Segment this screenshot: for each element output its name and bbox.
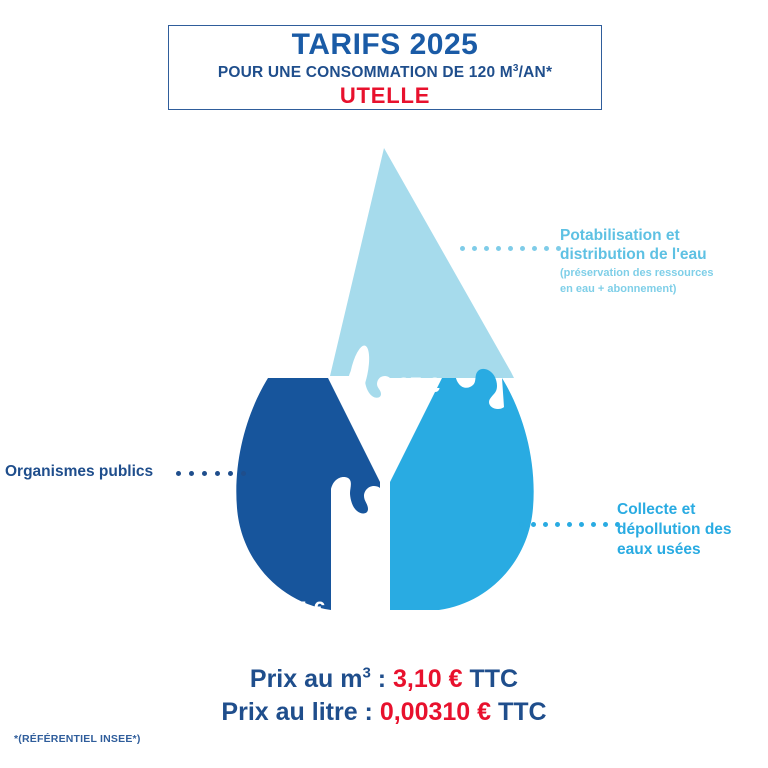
connector-dots-right xyxy=(519,522,627,527)
water-drop-puzzle-chart: 1,27 € 0,55 € 1,28 € xyxy=(225,140,545,625)
legend-right-line2: dépollution des xyxy=(617,520,767,540)
dot xyxy=(520,246,525,251)
subtitle-suffix: /AN* xyxy=(519,64,553,81)
legend-left-line1: Organismes publics xyxy=(5,462,175,482)
legend-top-note1: (préservation des ressources xyxy=(560,267,760,281)
dot xyxy=(202,471,207,476)
price-m3-suffix: TTC xyxy=(463,665,519,693)
puzzle-piece-left[interactable] xyxy=(236,378,380,610)
price-summary: Prix au m3 : 3,10 € TTC Prix au litre : … xyxy=(0,663,768,728)
price-litre-value: 0,00310 € xyxy=(380,698,491,726)
dot xyxy=(532,246,537,251)
connector-dots-top xyxy=(460,246,568,251)
legend-right-line1: Collecte et xyxy=(617,500,767,520)
price-litre-suffix: TTC xyxy=(491,698,547,726)
dot xyxy=(555,522,560,527)
dot xyxy=(496,246,501,251)
dot xyxy=(215,471,220,476)
dot xyxy=(543,522,548,527)
subtitle-prefix: POUR UNE CONSOMMATION DE 120 M xyxy=(218,64,513,81)
page-subtitle: POUR UNE CONSOMMATION DE 120 M3/AN* xyxy=(218,63,552,83)
dot xyxy=(189,471,194,476)
dot xyxy=(228,471,233,476)
page-title: TARIFS 2025 xyxy=(292,29,479,61)
header-title-box: TARIFS 2025 POUR UNE CONSOMMATION DE 120… xyxy=(168,25,602,110)
dot xyxy=(591,522,596,527)
legend-top-note2: en eau + abonnement) xyxy=(560,283,760,297)
price-m3-separator: : xyxy=(371,665,393,693)
price-litre-label: Prix au litre : xyxy=(221,698,379,726)
dot xyxy=(508,246,513,251)
dot xyxy=(460,246,465,251)
dot xyxy=(241,471,246,476)
value-label-top: 1,27 € xyxy=(350,374,470,398)
legend-top-line1: Potabilisation et xyxy=(560,226,760,245)
price-m3-label: Prix au m xyxy=(250,665,363,693)
dot xyxy=(484,246,489,251)
dot xyxy=(567,522,572,527)
legend-top-line2: distribution de l'eau xyxy=(560,245,760,264)
price-m3-superscript: 3 xyxy=(362,665,370,682)
legend-right-line3: eaux usées xyxy=(617,540,767,560)
city-name: UTELLE xyxy=(340,84,430,108)
price-per-litre: Prix au litre : 0,00310 € TTC xyxy=(0,696,768,729)
footnote-referentiel-insee: *(RÉFÉRENTIEL INSEE*) xyxy=(14,733,141,745)
legend-potabilisation: Potabilisation et distribution de l'eau … xyxy=(560,226,760,296)
dot xyxy=(519,522,524,527)
price-per-m3: Prix au m3 : 3,10 € TTC xyxy=(0,663,768,696)
dot xyxy=(176,471,181,476)
puzzle-piece-right[interactable] xyxy=(390,369,534,610)
dot xyxy=(544,246,549,251)
dot xyxy=(472,246,477,251)
connector-dots-left xyxy=(176,471,254,476)
legend-organismes-publics: Organismes publics xyxy=(5,462,175,482)
price-m3-value: 3,10 € xyxy=(393,665,463,693)
dot xyxy=(579,522,584,527)
legend-collecte-depollution: Collecte et dépollution des eaux usées xyxy=(617,500,767,560)
value-label-left: 0,55 € xyxy=(235,598,355,622)
dot xyxy=(531,522,536,527)
dot xyxy=(603,522,608,527)
